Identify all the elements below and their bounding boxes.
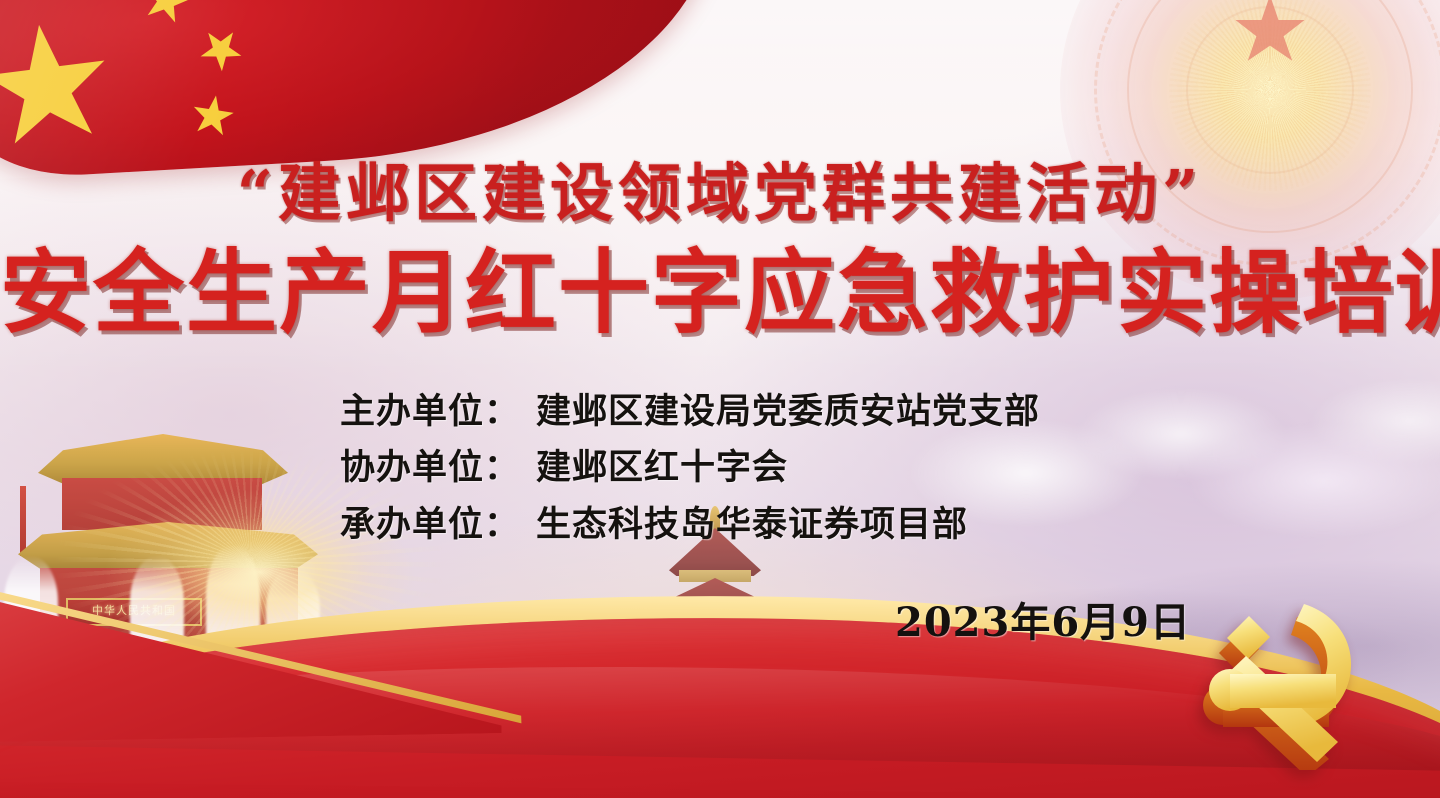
organizer-value: 建邺区建设局党委质安站党支部 — [536, 390, 1040, 433]
organizer-value: 生态科技岛华泰证券项目部 — [536, 503, 968, 546]
poster-text-block: “建邺区建设领域党群共建活动” 安全生产月红十字应急救护实操培训 主办单位： 建… — [0, 0, 1440, 798]
organizer-row: 主办单位： 建邺区建设局党委质安站党支部 — [340, 390, 1040, 433]
event-date: 2023年6月9日 — [895, 590, 1191, 648]
organizer-label: 承办单位： — [340, 503, 520, 546]
organizer-label: 主办单位： — [340, 390, 520, 433]
organizer-value: 建邺区红十字会 — [536, 446, 788, 489]
organizer-list: 主办单位： 建邺区建设局党委质安站党支部 协办单位： 建邺区红十字会 承办单位：… — [340, 390, 1040, 559]
page-title-subtitle: “建邺区建设领域党群共建活动” — [0, 162, 1440, 225]
page-title-main: 安全生产月红十字应急救护实操培训 — [0, 248, 1440, 339]
organizer-label: 协办单位： — [340, 446, 520, 489]
organizer-row: 承办单位： 生态科技岛华泰证券项目部 — [340, 503, 1040, 546]
organizer-row: 协办单位： 建邺区红十字会 — [340, 446, 1040, 489]
poster-canvas: 中华人民共和国 — [0, 0, 1440, 798]
